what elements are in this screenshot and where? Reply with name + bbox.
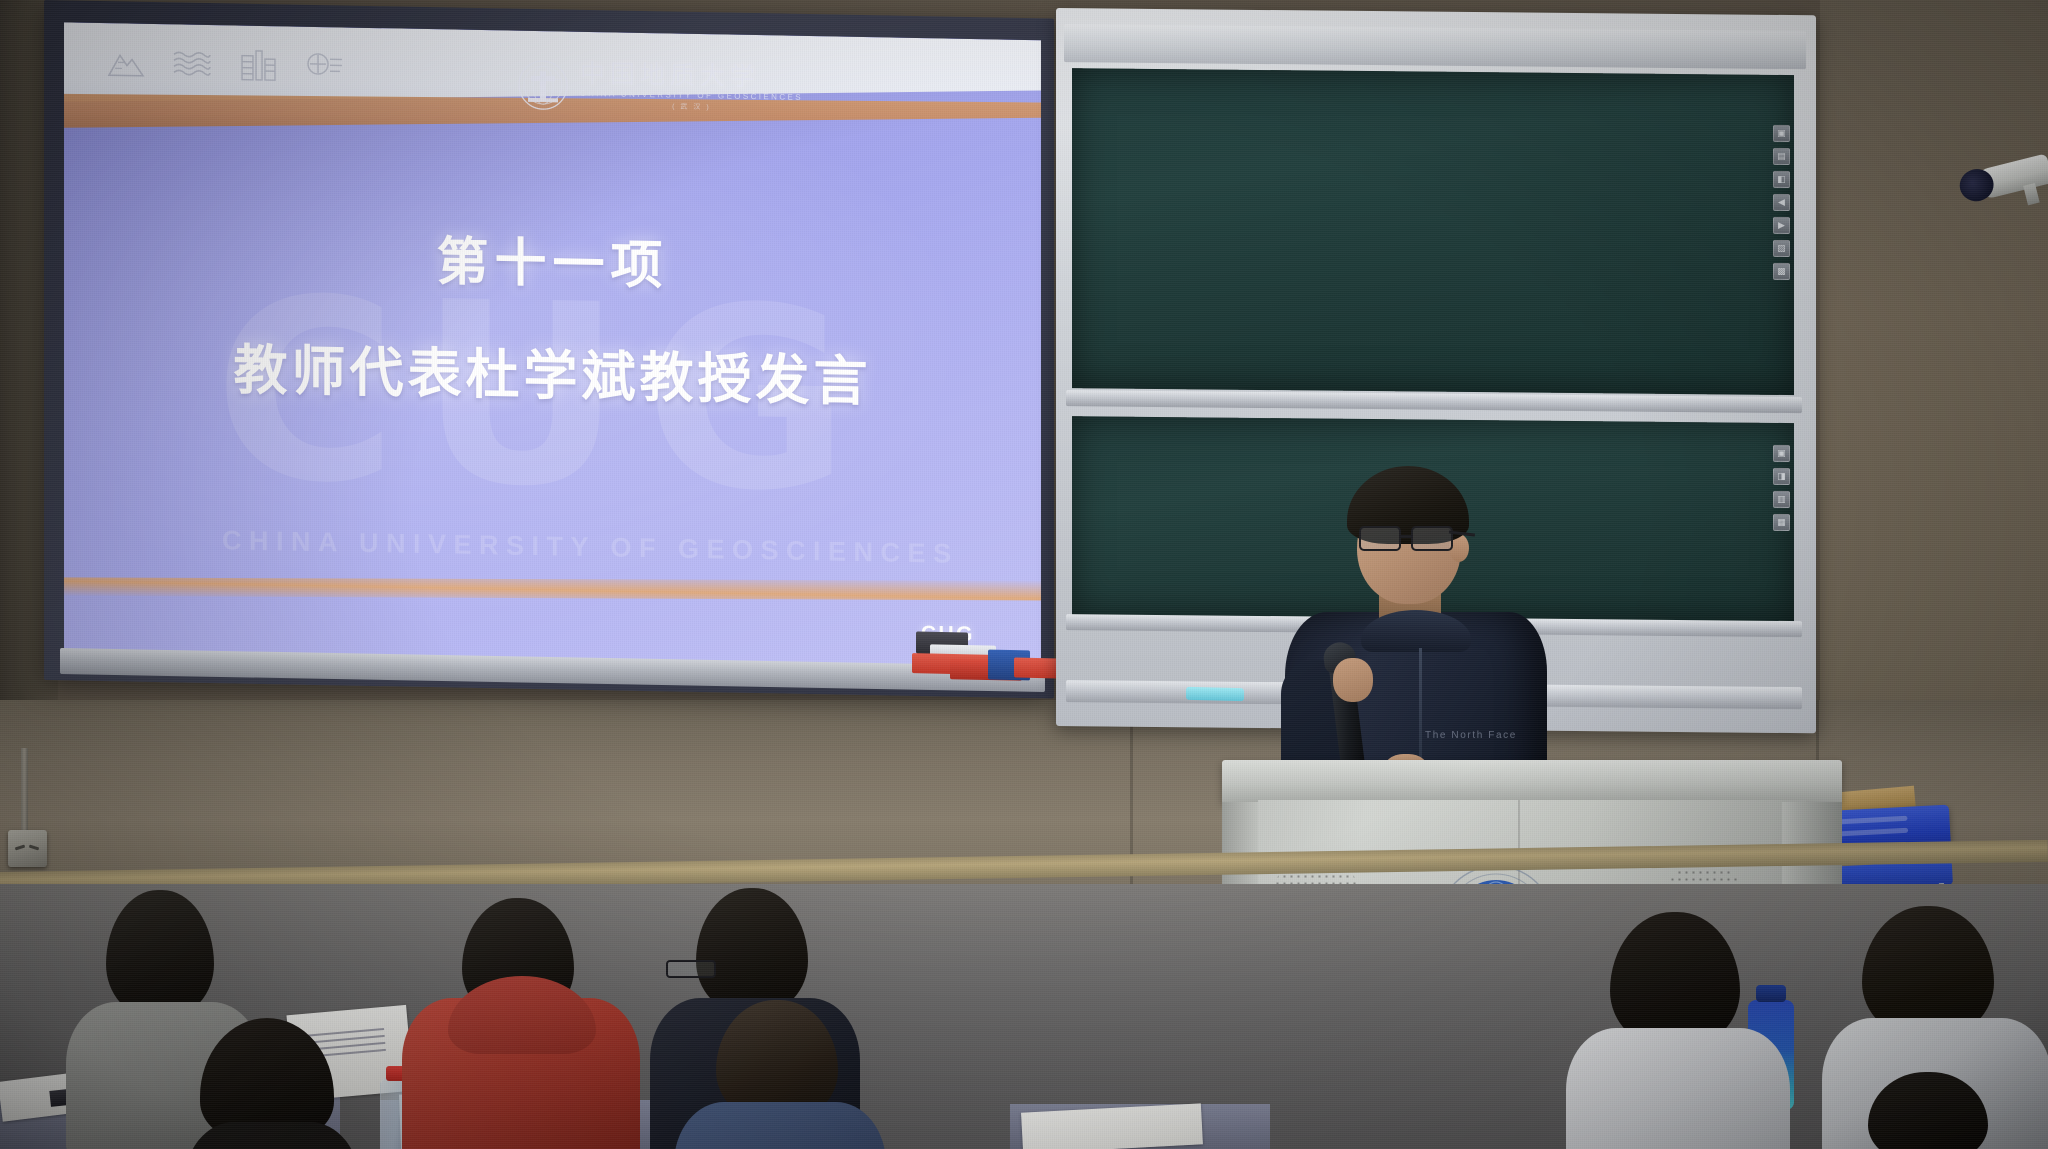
ctrl-button-3[interactable]: ◧ bbox=[1773, 171, 1790, 188]
jacket-brand-text: The North Face bbox=[1425, 730, 1517, 741]
ctrl-button-2[interactable]: ▤ bbox=[1773, 148, 1790, 165]
tray-book-red-3 bbox=[1014, 658, 1060, 679]
slide-header-icon-group bbox=[106, 45, 344, 83]
projection-screen: CUG CHINA UNIVERSITY OF GEOSCIENCES bbox=[44, 0, 1054, 699]
wall-right-panel bbox=[1820, 0, 2048, 780]
mountain-icon bbox=[106, 45, 146, 80]
power-outlet-icon[interactable] bbox=[8, 830, 47, 867]
presenter-hand-holding-mic bbox=[1333, 658, 1373, 702]
blackboard-control-strip-lower: ▣ ◨ ▥ ▦ bbox=[1773, 445, 1790, 531]
waves-icon bbox=[172, 46, 212, 81]
chalk-eraser[interactable] bbox=[1186, 687, 1244, 701]
book-seal-icon bbox=[304, 49, 344, 84]
ctrl-button-7[interactable]: ▩ bbox=[1773, 263, 1790, 280]
body-white-shirt bbox=[1566, 1028, 1790, 1149]
logo-name-cn: 中国地质大学 bbox=[580, 62, 803, 91]
ctrl-button-6[interactable]: ▨ bbox=[1773, 240, 1790, 257]
cug-seal-icon bbox=[517, 59, 569, 112]
ctrl-button-8[interactable]: ▣ bbox=[1773, 445, 1790, 462]
chair-slot-2 bbox=[1832, 828, 1908, 837]
blackboard-control-strip-upper: ▣ ▤ ◧ ◀ ▶ ▨ ▩ bbox=[1773, 125, 1790, 280]
glasses-lens-left bbox=[1359, 526, 1401, 551]
blackboard-upper-pane bbox=[1072, 68, 1794, 395]
buildings-icon bbox=[238, 48, 278, 83]
lecture-hall-scene: CUG CHINA UNIVERSITY OF GEOSCIENCES bbox=[0, 0, 2048, 1149]
slide-university-logo: 中国地质大学 CHINA UNIVERSITY OF GEOSCIENCES (… bbox=[517, 59, 803, 116]
ctrl-button-11[interactable]: ▦ bbox=[1773, 514, 1790, 531]
slide-title-line-2: 教师代表杜学斌教授发言 bbox=[64, 322, 1041, 419]
ctrl-button-9[interactable]: ◨ bbox=[1773, 468, 1790, 485]
blackboard-top-rail bbox=[1064, 24, 1806, 69]
ctrl-button-1[interactable]: ▣ bbox=[1773, 125, 1790, 142]
bottle-cap-blue bbox=[1756, 985, 1786, 1002]
presenter: The North Face bbox=[1275, 462, 1555, 792]
slide-surface: CUG CHINA UNIVERSITY OF GEOSCIENCES bbox=[64, 22, 1041, 668]
eyeglasses bbox=[666, 960, 716, 978]
podium-desktop bbox=[1222, 760, 1842, 802]
body-blue-shirt bbox=[674, 1102, 886, 1149]
presenter-glasses bbox=[1359, 526, 1463, 551]
slide-title-line-1: 第十一项 bbox=[64, 212, 1041, 305]
logo-text-block: 中国地质大学 CHINA UNIVERSITY OF GEOSCIENCES (… bbox=[580, 62, 803, 114]
chair-slot-1 bbox=[1831, 816, 1907, 825]
logo-campus: ( 武 汉 ) bbox=[580, 100, 803, 114]
slide-footer-accent bbox=[64, 562, 1041, 615]
ctrl-button-5[interactable]: ▶ bbox=[1773, 217, 1790, 234]
glasses-bridge bbox=[1401, 535, 1413, 538]
slide-watermark-subtitle: CHINA UNIVERSITY OF GEOSCIENCES bbox=[222, 525, 959, 570]
ctrl-button-4[interactable]: ◀ bbox=[1773, 194, 1790, 211]
ctrl-button-10[interactable]: ▥ bbox=[1773, 491, 1790, 508]
glasses-lens-right bbox=[1411, 526, 1453, 551]
